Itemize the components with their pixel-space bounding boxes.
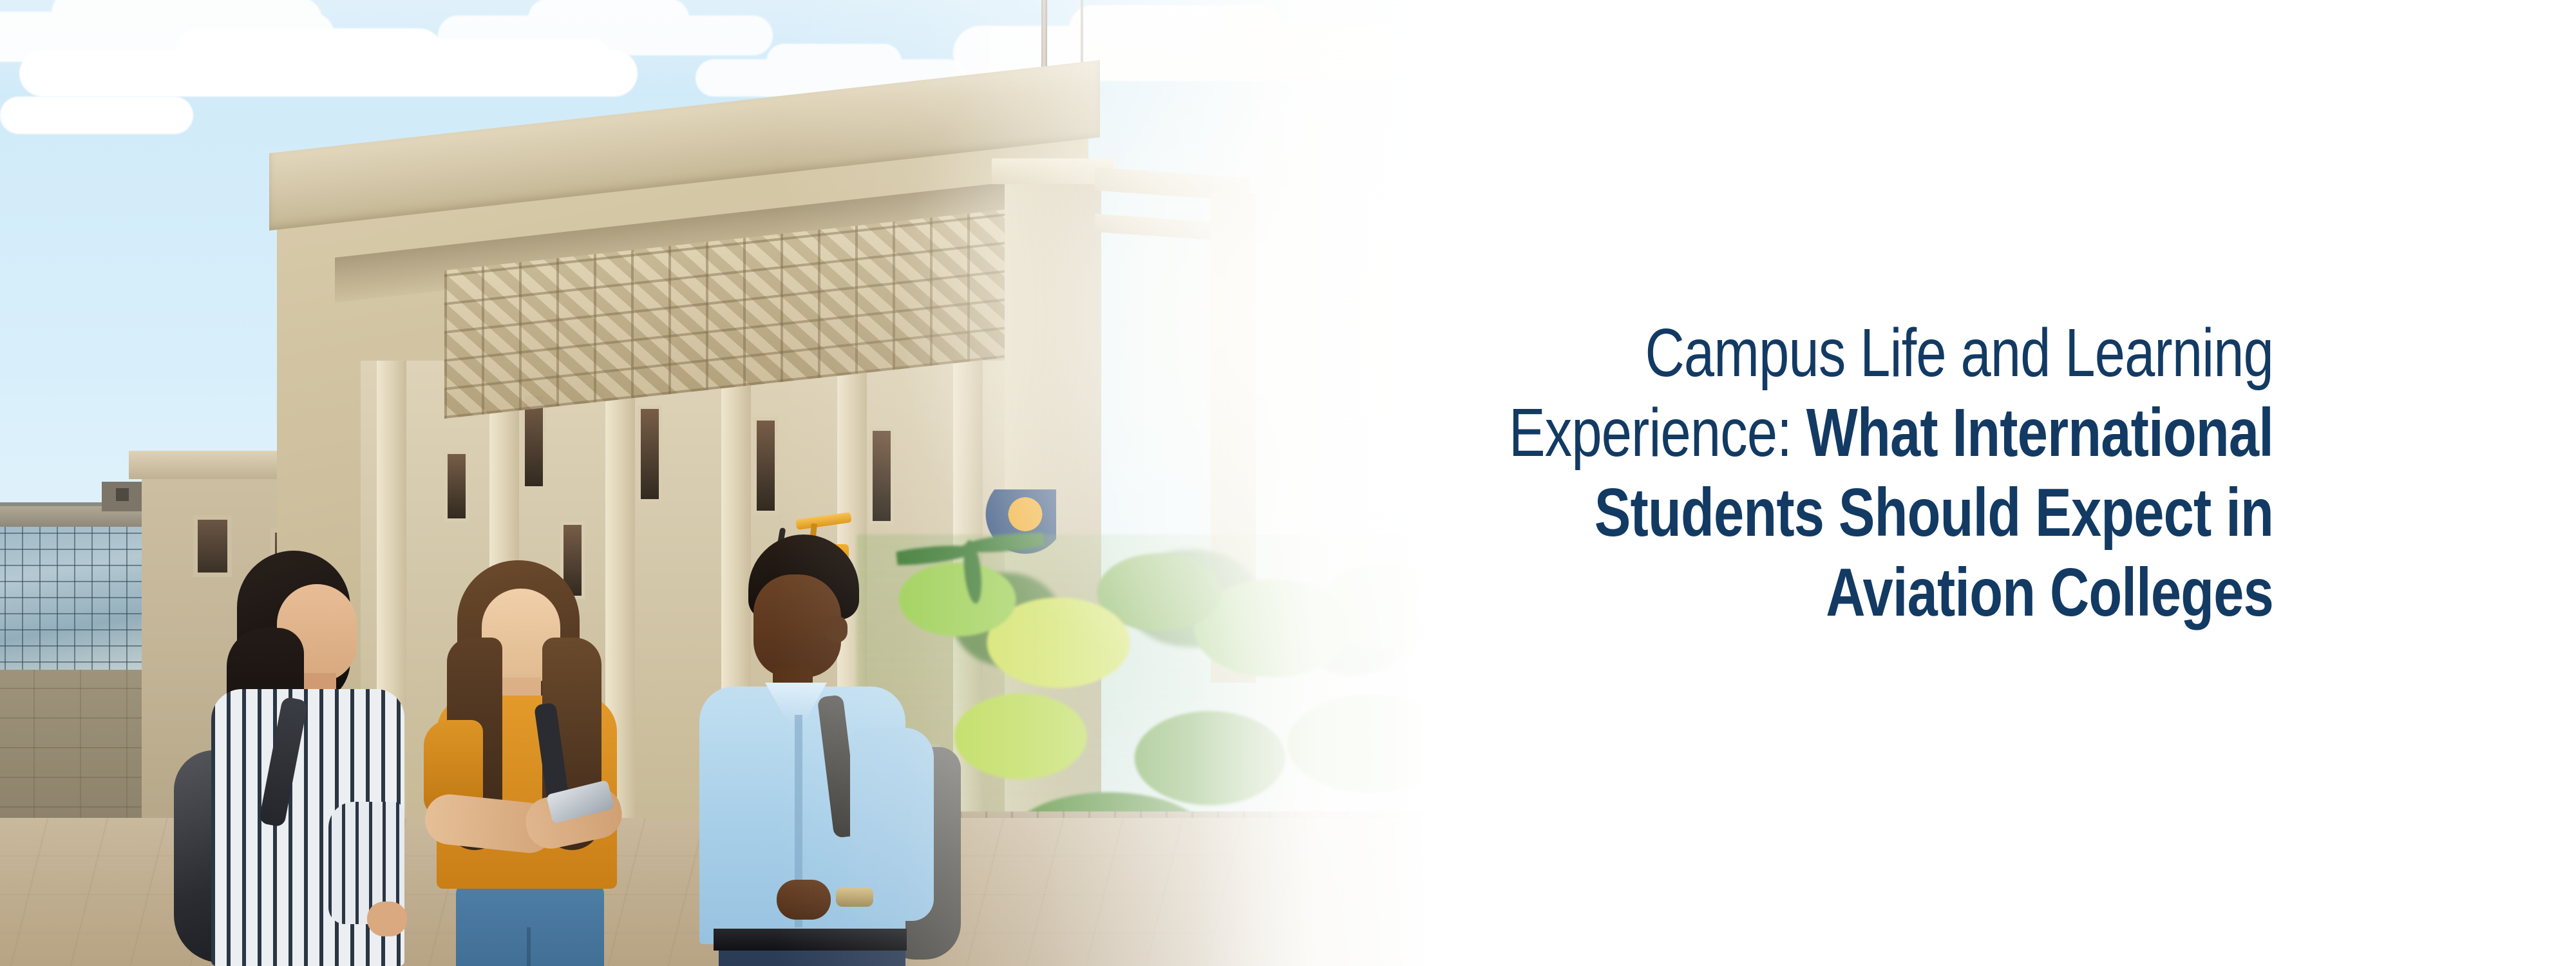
window xyxy=(444,451,469,522)
student-left xyxy=(174,551,431,966)
cloud-icon xyxy=(0,97,193,134)
cloud-icon xyxy=(438,15,773,55)
student-right xyxy=(657,535,960,966)
page-title: Campus Life and Learning Experience: Wha… xyxy=(1397,313,2273,632)
article-hero-banner: Campus Life and Learning Experience: Wha… xyxy=(0,0,2576,966)
student-middle xyxy=(399,560,644,966)
window xyxy=(869,428,894,524)
belt xyxy=(714,929,907,951)
campus-photo xyxy=(0,0,1481,966)
window xyxy=(638,406,662,502)
jeans xyxy=(456,882,604,966)
hand xyxy=(777,880,831,920)
ear xyxy=(826,616,848,643)
window xyxy=(753,417,778,514)
cloud-icon xyxy=(19,50,638,97)
wristwatch-icon xyxy=(836,887,873,907)
rooftop-structure xyxy=(102,482,147,511)
